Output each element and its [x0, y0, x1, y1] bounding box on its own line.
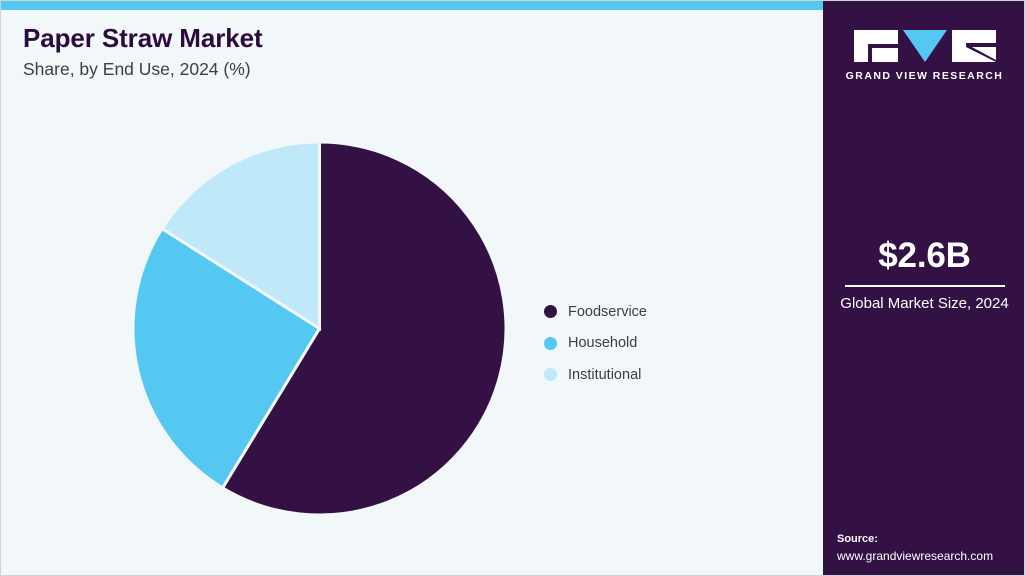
logo-letter-g-icon [854, 30, 898, 62]
stat-block: $2.6B Global Market Size, 2024 [823, 237, 1025, 314]
legend-swatch-icon [544, 368, 557, 381]
pie-chart-svg [132, 141, 507, 516]
logo-letter-v-triangle-icon [903, 30, 947, 62]
source-label: Source: [837, 532, 1018, 548]
infographic-card: Paper Straw Market Share, by End Use, 20… [0, 0, 1025, 576]
legend-swatch-icon [544, 305, 557, 318]
stat-caption: Global Market Size, 2024 [823, 294, 1025, 314]
top-accent-bar [1, 1, 823, 10]
logo-wordmark: GRAND VIEW RESEARCH [823, 70, 1025, 82]
stat-divider [845, 285, 1005, 287]
legend-swatch-icon [544, 337, 557, 350]
logo-marks [823, 30, 1025, 62]
legend-item-label: Household [568, 335, 637, 351]
chart-area: Paper Straw Market Share, by End Use, 20… [1, 10, 823, 576]
page-subtitle: Share, by End Use, 2024 (%) [23, 59, 263, 80]
pie-chart [132, 141, 507, 516]
legend-item[interactable]: Institutional [544, 359, 647, 391]
legend-item[interactable]: Household [544, 328, 647, 360]
chart-legend: FoodserviceHouseholdInstitutional [544, 296, 647, 391]
page-title: Paper Straw Market [23, 24, 263, 54]
title-block: Paper Straw Market Share, by End Use, 20… [23, 24, 263, 80]
source-url[interactable]: www.grandviewresearch.com [837, 548, 1018, 565]
stat-value: $2.6B [823, 237, 1025, 276]
brand-panel: GRAND VIEW RESEARCH $2.6B Global Market … [823, 1, 1025, 576]
legend-item-label: Foodservice [568, 304, 647, 320]
legend-item[interactable]: Foodservice [544, 296, 647, 328]
logo-letter-r-icon [952, 30, 996, 62]
legend-item-label: Institutional [568, 367, 641, 383]
source-block: Source: www.grandviewresearch.com [837, 532, 1018, 565]
brand-logo: GRAND VIEW RESEARCH [823, 30, 1025, 82]
